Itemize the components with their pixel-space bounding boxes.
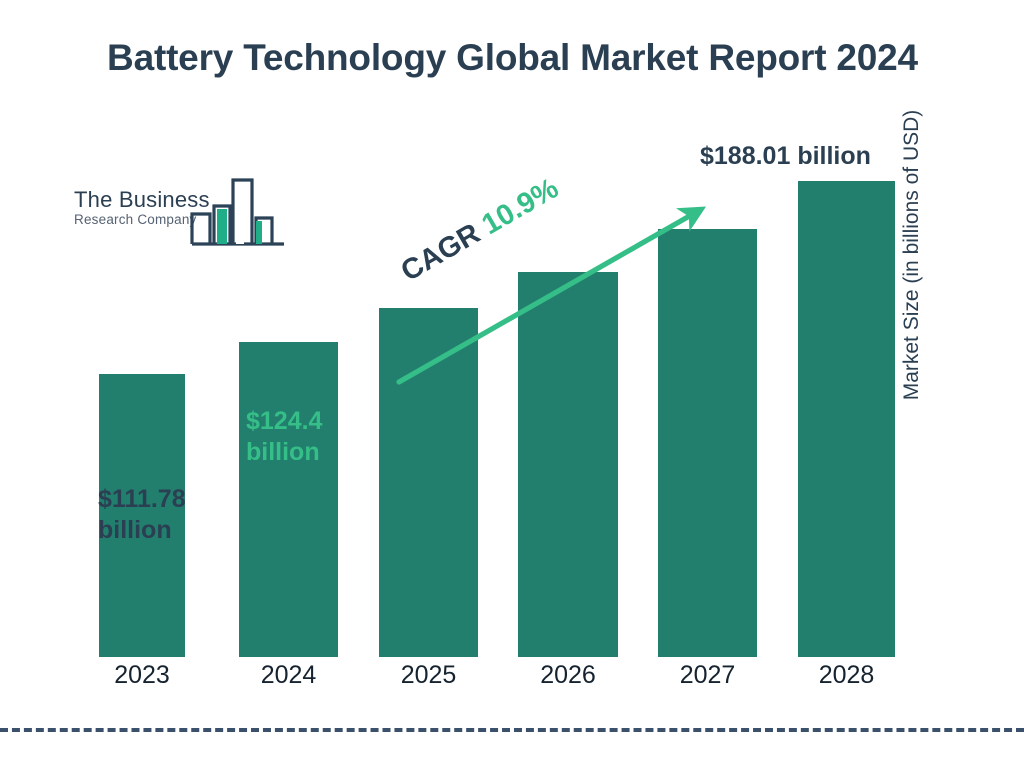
xtick-label-2024: 2024 bbox=[239, 663, 338, 688]
xtick-label-2026: 2026 bbox=[518, 663, 618, 688]
chart-canvas: Battery Technology Global Market Report … bbox=[0, 0, 1024, 768]
xtick-label-2025: 2025 bbox=[379, 663, 478, 688]
value-label-2023: $111.78 billion bbox=[98, 484, 248, 545]
xtick-label-2027: 2027 bbox=[658, 663, 757, 688]
bar-2028 bbox=[798, 181, 895, 657]
footer-divider bbox=[0, 728, 1024, 732]
y-axis-title: Market Size (in billions of USD) bbox=[900, 55, 924, 455]
growth-trend-arrow bbox=[385, 190, 715, 395]
xtick-label-2028: 2028 bbox=[798, 663, 895, 688]
xtick-label-2023: 2023 bbox=[99, 663, 185, 688]
bar-2024 bbox=[239, 342, 338, 657]
value-label-2024: $124.4 billion bbox=[246, 406, 396, 467]
